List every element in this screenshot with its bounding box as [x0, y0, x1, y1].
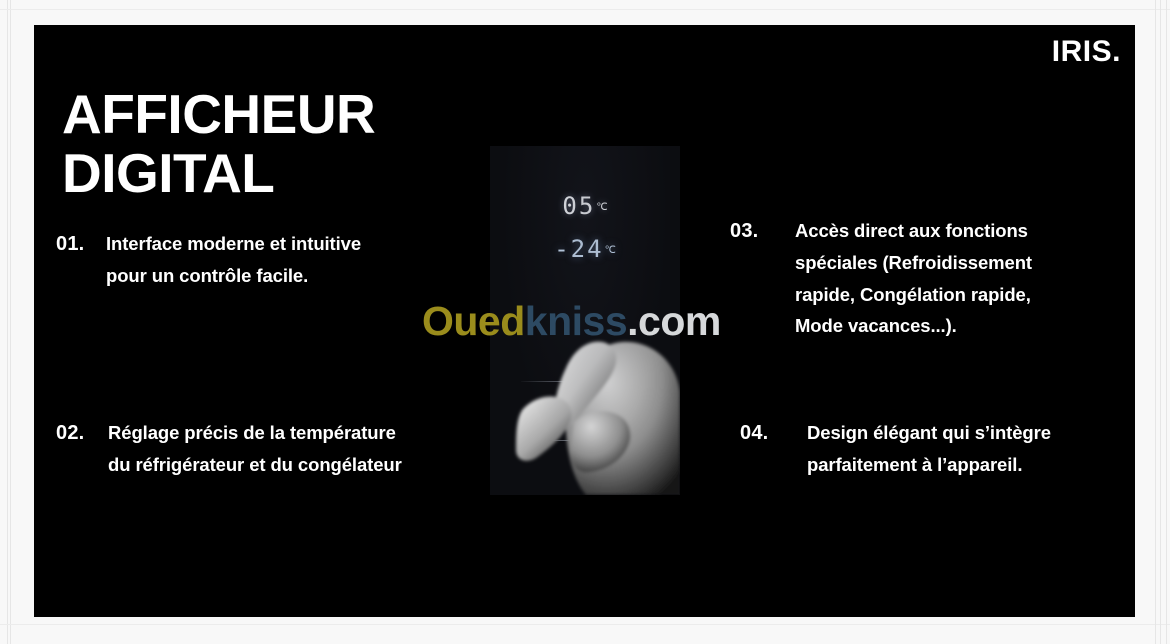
feature-text-03-line-3: rapide, Congélation rapide, — [795, 279, 1032, 311]
feature-text-01: Interface moderne et intuitive pour un c… — [106, 228, 361, 292]
panel-divider-3 — [521, 440, 649, 441]
feature-text-04-line-1: Design élégant qui s’intègre — [807, 417, 1051, 449]
feature-text-04: Design élégant qui s’intègre parfaitemen… — [807, 417, 1051, 481]
panel-button-freezer[interactable]: Freezer — [490, 395, 680, 404]
page-title-line-1: AFFICHEUR — [62, 85, 375, 144]
feature-item-02: 02. Réglage précis de la température du … — [56, 417, 402, 481]
oudkniss-watermark: Ouedkniss.com — [422, 301, 721, 342]
feature-item-04: 04. Design élégant qui s’intègre parfait… — [740, 417, 1051, 481]
right-edge-guide-inner — [1155, 0, 1156, 644]
fridge-temperature-unit: ℃ — [596, 202, 607, 213]
feature-text-03: Accès direct aux fonctions spéciales (Re… — [795, 215, 1032, 342]
left-edge-guide-inner — [10, 0, 11, 644]
top-edge-guide — [0, 9, 1170, 10]
left-edge-guide — [7, 0, 8, 644]
watermark-part-3: .com — [627, 298, 721, 344]
iris-logo-text: IRIS — [1052, 35, 1112, 68]
page-canvas: IRIS. AFFICHEUR DIGITAL 01. Interface mo… — [0, 0, 1170, 644]
slide-content: IRIS. AFFICHEUR DIGITAL 01. Interface mo… — [34, 25, 1135, 617]
panel-divider-1 — [521, 381, 649, 382]
panel-button-function[interactable]: Function — [490, 425, 680, 434]
page-title: AFFICHEUR DIGITAL — [62, 85, 375, 203]
feature-text-01-line-1: Interface moderne et intuitive — [106, 228, 361, 260]
feature-text-01-line-2: pour un contrôle facile. — [106, 260, 361, 292]
bottom-edge-guide — [0, 624, 1170, 625]
feature-text-02-line-2: du réfrigérateur et du congélateur — [108, 449, 402, 481]
fridge-temperature-readout: 05℃ — [490, 194, 680, 218]
iris-logo: IRIS. — [1052, 37, 1121, 67]
right-edge-guide — [1166, 0, 1167, 644]
feature-text-02-line-1: Réglage précis de la température — [108, 417, 402, 449]
panel-button-fridge[interactable]: Fridge — [490, 365, 680, 374]
feature-item-01: 01. Interface moderne et intuitive pour … — [56, 228, 361, 292]
page-title-line-2: DIGITAL — [62, 144, 375, 203]
freezer-temperature-readout: -24℃ — [490, 237, 680, 261]
feature-text-02: Réglage précis de la température du réfr… — [108, 417, 402, 481]
feature-number-03: 03. — [730, 215, 795, 247]
freezer-temperature-value: -24 — [554, 235, 603, 263]
feature-number-01: 01. — [56, 228, 106, 260]
right-edge-guide-mid — [1160, 0, 1161, 644]
fridge-temperature-value: 05 — [562, 192, 595, 220]
panel-button-ok[interactable]: OK — [490, 454, 680, 463]
watermark-part-1: Oued — [422, 298, 525, 344]
feature-text-04-line-2: parfaitement à l’appareil. — [807, 449, 1051, 481]
freezer-temperature-unit: ℃ — [605, 245, 616, 256]
panel-divider-2 — [521, 410, 649, 411]
feature-text-03-line-1: Accès direct aux fonctions — [795, 215, 1032, 247]
feature-text-03-line-2: spéciales (Refroidissement — [795, 247, 1032, 279]
feature-number-02: 02. — [56, 417, 108, 449]
feature-text-03-line-4: Mode vacances...). — [795, 310, 1032, 342]
watermark-part-2: kniss — [525, 298, 627, 344]
iris-logo-dot: . — [1112, 35, 1121, 68]
feature-number-04: 04. — [740, 417, 807, 449]
feature-item-03: 03. Accès direct aux fonctions spéciales… — [730, 215, 1032, 342]
